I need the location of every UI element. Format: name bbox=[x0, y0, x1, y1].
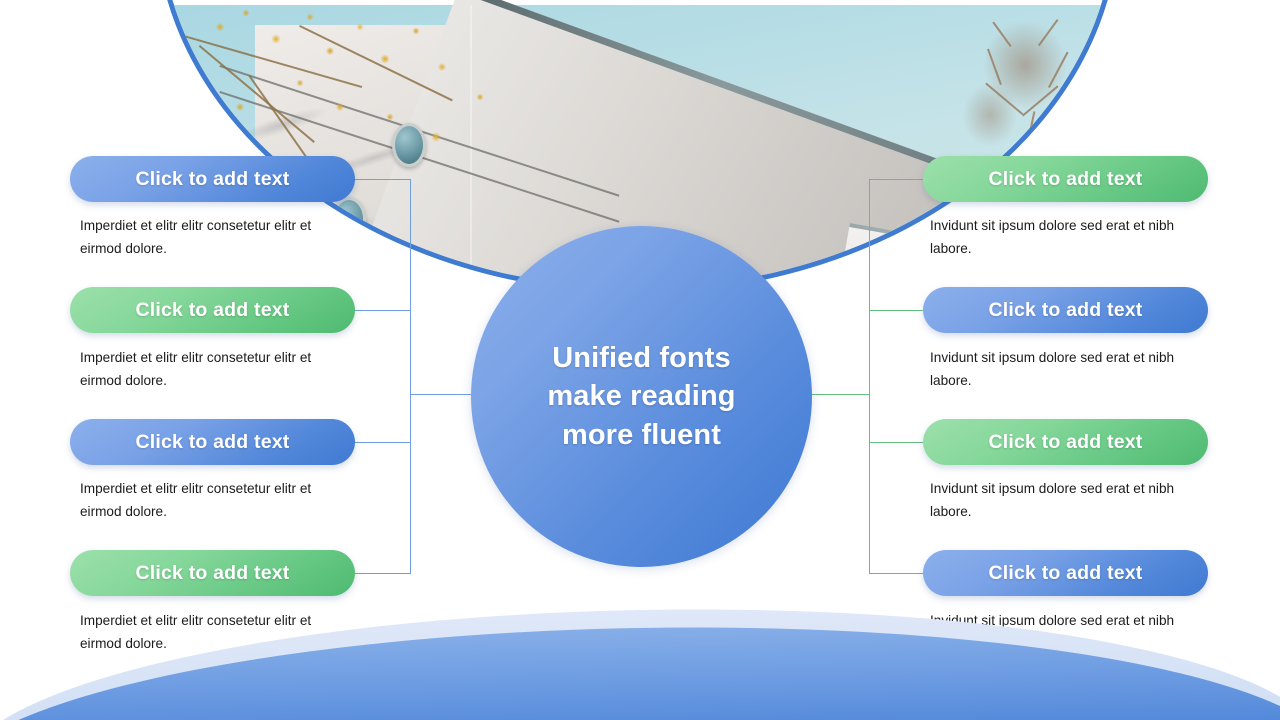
connector-spine-right bbox=[869, 179, 870, 574]
left-pill-3[interactable]: Click to add text bbox=[70, 419, 355, 465]
left-description-2: Imperdiet et elitr elitr consetetur elit… bbox=[80, 347, 342, 393]
center-topic-circle[interactable]: Unified fonts make reading more fluent bbox=[471, 226, 812, 567]
photo-twig bbox=[1038, 19, 1058, 46]
right-description-1: Invidunt sit ipsum dolore sed erat et ni… bbox=[930, 215, 1192, 261]
left-pill-1-label: Click to add text bbox=[135, 168, 289, 191]
connector-spine-left bbox=[410, 179, 411, 574]
slide-canvas: Unified fonts make reading more fluent C… bbox=[0, 0, 1280, 720]
photo-twig bbox=[1022, 85, 1058, 116]
left-pill-2[interactable]: Click to add text bbox=[70, 287, 355, 333]
right-pill-2[interactable]: Click to add text bbox=[923, 287, 1208, 333]
left-pill-1[interactable]: Click to add text bbox=[70, 156, 355, 202]
left-pill-3-label: Click to add text bbox=[135, 431, 289, 454]
left-description-3: Imperdiet et elitr elitr consetetur elit… bbox=[80, 478, 342, 524]
left-pill-4-label: Click to add text bbox=[135, 562, 289, 585]
photo-twig bbox=[992, 22, 1011, 47]
left-pill-4[interactable]: Click to add text bbox=[70, 550, 355, 596]
right-description-2: Invidunt sit ipsum dolore sed erat et ni… bbox=[930, 347, 1192, 393]
photo-twig bbox=[985, 83, 1023, 115]
right-pill-4[interactable]: Click to add text bbox=[923, 550, 1208, 596]
photo-blossom-tree bbox=[180, 0, 510, 177]
photo-twig bbox=[1048, 52, 1068, 88]
right-pill-1-label: Click to add text bbox=[988, 168, 1142, 191]
photo-wall-lamp bbox=[392, 123, 426, 167]
photo-twig bbox=[987, 49, 1001, 85]
right-pill-2-label: Click to add text bbox=[988, 299, 1142, 322]
left-description-1: Imperdiet et elitr elitr consetetur elit… bbox=[80, 215, 342, 261]
connector-trunk-left bbox=[410, 394, 480, 395]
right-pill-4-label: Click to add text bbox=[988, 562, 1142, 585]
right-description-3: Invidunt sit ipsum dolore sed erat et ni… bbox=[930, 478, 1192, 524]
right-pill-3[interactable]: Click to add text bbox=[923, 419, 1208, 465]
center-topic-title: Unified fonts make reading more fluent bbox=[547, 339, 735, 454]
right-pill-1[interactable]: Click to add text bbox=[923, 156, 1208, 202]
left-pill-2-label: Click to add text bbox=[135, 299, 289, 322]
right-pill-3-label: Click to add text bbox=[988, 431, 1142, 454]
